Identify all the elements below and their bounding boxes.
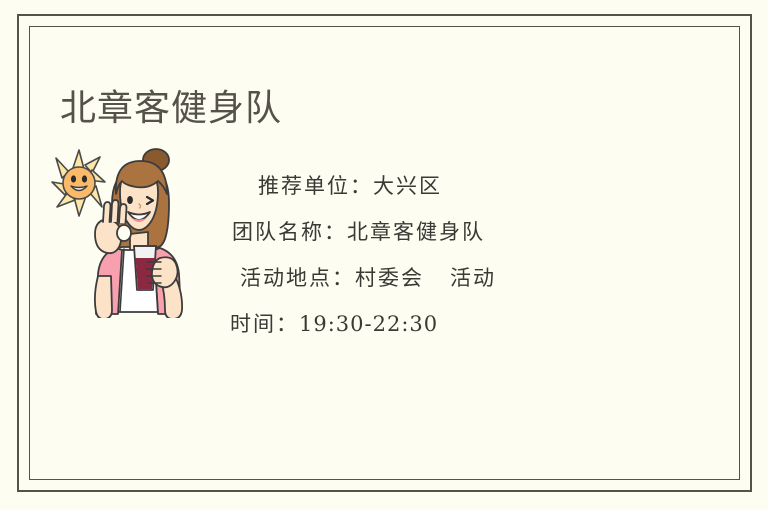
arm-left (95, 276, 112, 318)
sun-icon (52, 150, 105, 216)
team-name-label: 团队名称： (232, 220, 347, 244)
info-line-recommending-unit: 推荐单位：大兴区 (228, 163, 628, 209)
info-line-activity-place: 活动地点：村委会活动 (228, 255, 628, 301)
recommending-unit-value: 大兴区 (373, 174, 442, 198)
poster-page: 北章客健身队 (0, 0, 768, 510)
activity-time-label-head: 活动 (450, 266, 496, 290)
activity-time-label-tail: 时间： (230, 312, 299, 336)
illustration-svg (48, 142, 224, 318)
eye-open (127, 196, 133, 204)
recommending-unit-label: 推荐单位： (258, 174, 373, 198)
page-title: 北章客健身队 (60, 84, 282, 132)
activity-info-block: 推荐单位：大兴区 团队名称：北章客健身队 活动地点：村委会活动 时间：19:30… (228, 163, 628, 347)
activity-place-value: 村委会 (355, 266, 424, 290)
info-line-activity-time: 时间：19:30-22:30 (228, 301, 628, 347)
info-line-team-name: 团队名称：北章客健身队 (228, 209, 628, 255)
activity-place-label: 活动地点： (240, 266, 355, 290)
woman-figure (95, 149, 182, 318)
activity-time-value: 19:30-22:30 (299, 312, 438, 336)
illustration-woman-drinking-juice-with-sun (48, 142, 224, 318)
team-name-value: 北章客健身队 (347, 220, 485, 244)
